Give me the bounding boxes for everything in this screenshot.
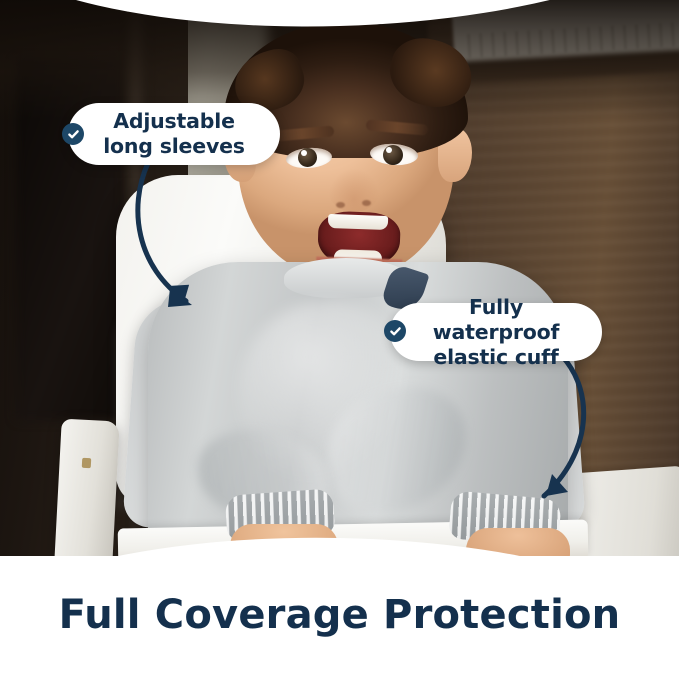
child-teeth-upper (328, 214, 388, 230)
product-feature-card: Adjustable long sleeves Fully waterproof… (0, 0, 679, 679)
callout-label: Fully waterproof elastic cuff (390, 295, 602, 370)
page-headline: Full Coverage Protection (0, 592, 679, 638)
callout-fully-waterproof-elastic-cuff[interactable]: Fully waterproof elastic cuff (390, 303, 602, 361)
callout-label: Adjustable long sleeves (85, 109, 263, 159)
child-nostril-right (362, 200, 371, 206)
child-eye-glint-left (301, 150, 307, 156)
child-eye-glint-right (386, 147, 392, 153)
product-photo (0, 0, 679, 560)
child-nostril-left (336, 202, 345, 208)
photo-scene (0, 0, 679, 556)
callout-adjustable-long-sleeves[interactable]: Adjustable long sleeves (68, 103, 280, 165)
check-circle-icon (384, 320, 406, 342)
check-circle-icon (62, 123, 84, 145)
